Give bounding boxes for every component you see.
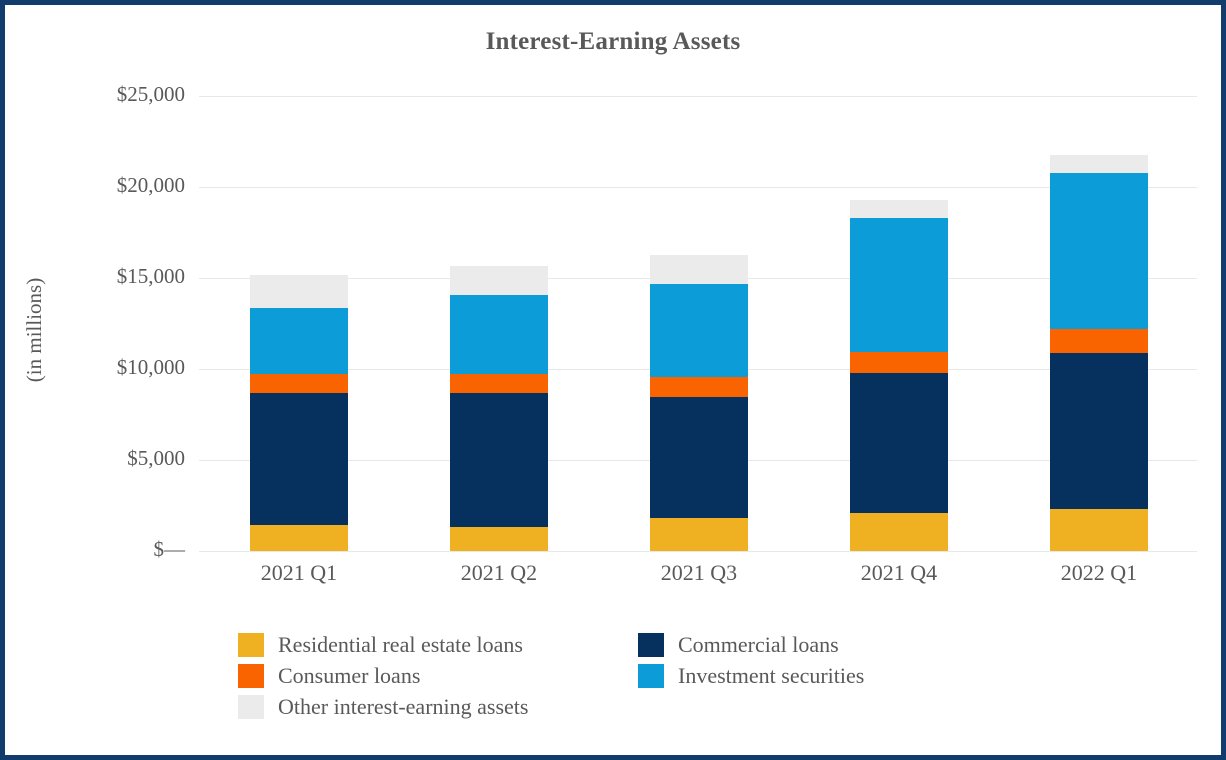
legend-color-swatch bbox=[238, 664, 264, 688]
legend-item-label: Commercial loans bbox=[678, 633, 839, 657]
x-axis-tick-label: 2022 Q1 bbox=[999, 560, 1199, 586]
bar-segment[interactable] bbox=[250, 308, 348, 374]
legend-item[interactable]: Consumer loans bbox=[238, 663, 420, 689]
legend-color-swatch bbox=[238, 695, 264, 719]
x-axis-tick-label: 2021 Q4 bbox=[799, 560, 999, 586]
bar-segment[interactable] bbox=[850, 218, 948, 352]
x-axis-tick-label: 2021 Q1 bbox=[199, 560, 399, 586]
legend-color-swatch bbox=[638, 633, 664, 657]
legend-color-swatch bbox=[638, 664, 664, 688]
bar-stack[interactable] bbox=[1050, 96, 1148, 551]
page-title: Interest-Earning Assets bbox=[0, 28, 1226, 56]
bar-stack[interactable] bbox=[650, 96, 748, 551]
bar-segment[interactable] bbox=[250, 374, 348, 393]
chart-legend: Residential real estate loansConsumer lo… bbox=[238, 632, 998, 732]
bar-segment[interactable] bbox=[450, 393, 548, 527]
chart-screenshot: Interest-Earning Assets (in millions) $2… bbox=[0, 0, 1226, 760]
y-axis-title: (in millions) bbox=[22, 260, 48, 400]
y-axis-tick-label: $— bbox=[55, 537, 185, 562]
bar-stack[interactable] bbox=[850, 96, 948, 551]
legend-color-swatch bbox=[238, 633, 264, 657]
bar-segment[interactable] bbox=[1050, 509, 1148, 551]
legend-item-label: Other interest-earning assets bbox=[278, 695, 528, 719]
y-axis-tick-labels: $25,000$20,000$15,000$10,000$5,000$— bbox=[55, 96, 185, 551]
bar-segment[interactable] bbox=[650, 397, 748, 517]
legend-item-label: Consumer loans bbox=[278, 664, 420, 688]
legend-item[interactable]: Other interest-earning assets bbox=[238, 694, 528, 720]
y-axis-tick-label: $10,000 bbox=[55, 355, 185, 380]
bar-segment[interactable] bbox=[250, 275, 348, 308]
y-axis-tick-label: $25,000 bbox=[55, 82, 185, 107]
bar-segment[interactable] bbox=[450, 527, 548, 551]
legend-item[interactable]: Investment securities bbox=[638, 663, 864, 689]
bar-segment[interactable] bbox=[650, 518, 748, 551]
plot-area bbox=[199, 96, 1197, 551]
y-axis-tick-label: $20,000 bbox=[55, 173, 185, 198]
gridline bbox=[199, 551, 1197, 552]
legend-item[interactable]: Commercial loans bbox=[638, 632, 839, 658]
legend-item-label: Investment securities bbox=[678, 664, 864, 688]
x-axis-tick-label: 2021 Q3 bbox=[599, 560, 799, 586]
bar-segment[interactable] bbox=[850, 352, 948, 373]
y-axis-tick-label: $5,000 bbox=[55, 446, 185, 471]
bar-segment[interactable] bbox=[650, 377, 748, 397]
bar-segment[interactable] bbox=[450, 374, 548, 393]
bar-segment[interactable] bbox=[1050, 353, 1148, 509]
bar-segment[interactable] bbox=[450, 266, 548, 295]
bar-segment[interactable] bbox=[650, 255, 748, 283]
bar-segment[interactable] bbox=[1050, 173, 1148, 329]
y-axis-tick-label: $15,000 bbox=[55, 264, 185, 289]
bar-segment[interactable] bbox=[850, 200, 948, 218]
legend-item[interactable]: Residential real estate loans bbox=[238, 632, 523, 658]
x-axis-tick-label: 2021 Q2 bbox=[399, 560, 599, 586]
bar-segment[interactable] bbox=[850, 373, 948, 513]
bar-segment[interactable] bbox=[450, 295, 548, 374]
bar-stack[interactable] bbox=[450, 96, 548, 551]
legend-item-label: Residential real estate loans bbox=[278, 633, 523, 657]
bar-segment[interactable] bbox=[1050, 329, 1148, 353]
bar-segment[interactable] bbox=[650, 284, 748, 378]
bar-segment[interactable] bbox=[250, 393, 348, 525]
bar-stack[interactable] bbox=[250, 96, 348, 551]
bar-segment[interactable] bbox=[250, 525, 348, 551]
bar-segment[interactable] bbox=[1050, 155, 1148, 173]
bar-segment[interactable] bbox=[850, 513, 948, 551]
